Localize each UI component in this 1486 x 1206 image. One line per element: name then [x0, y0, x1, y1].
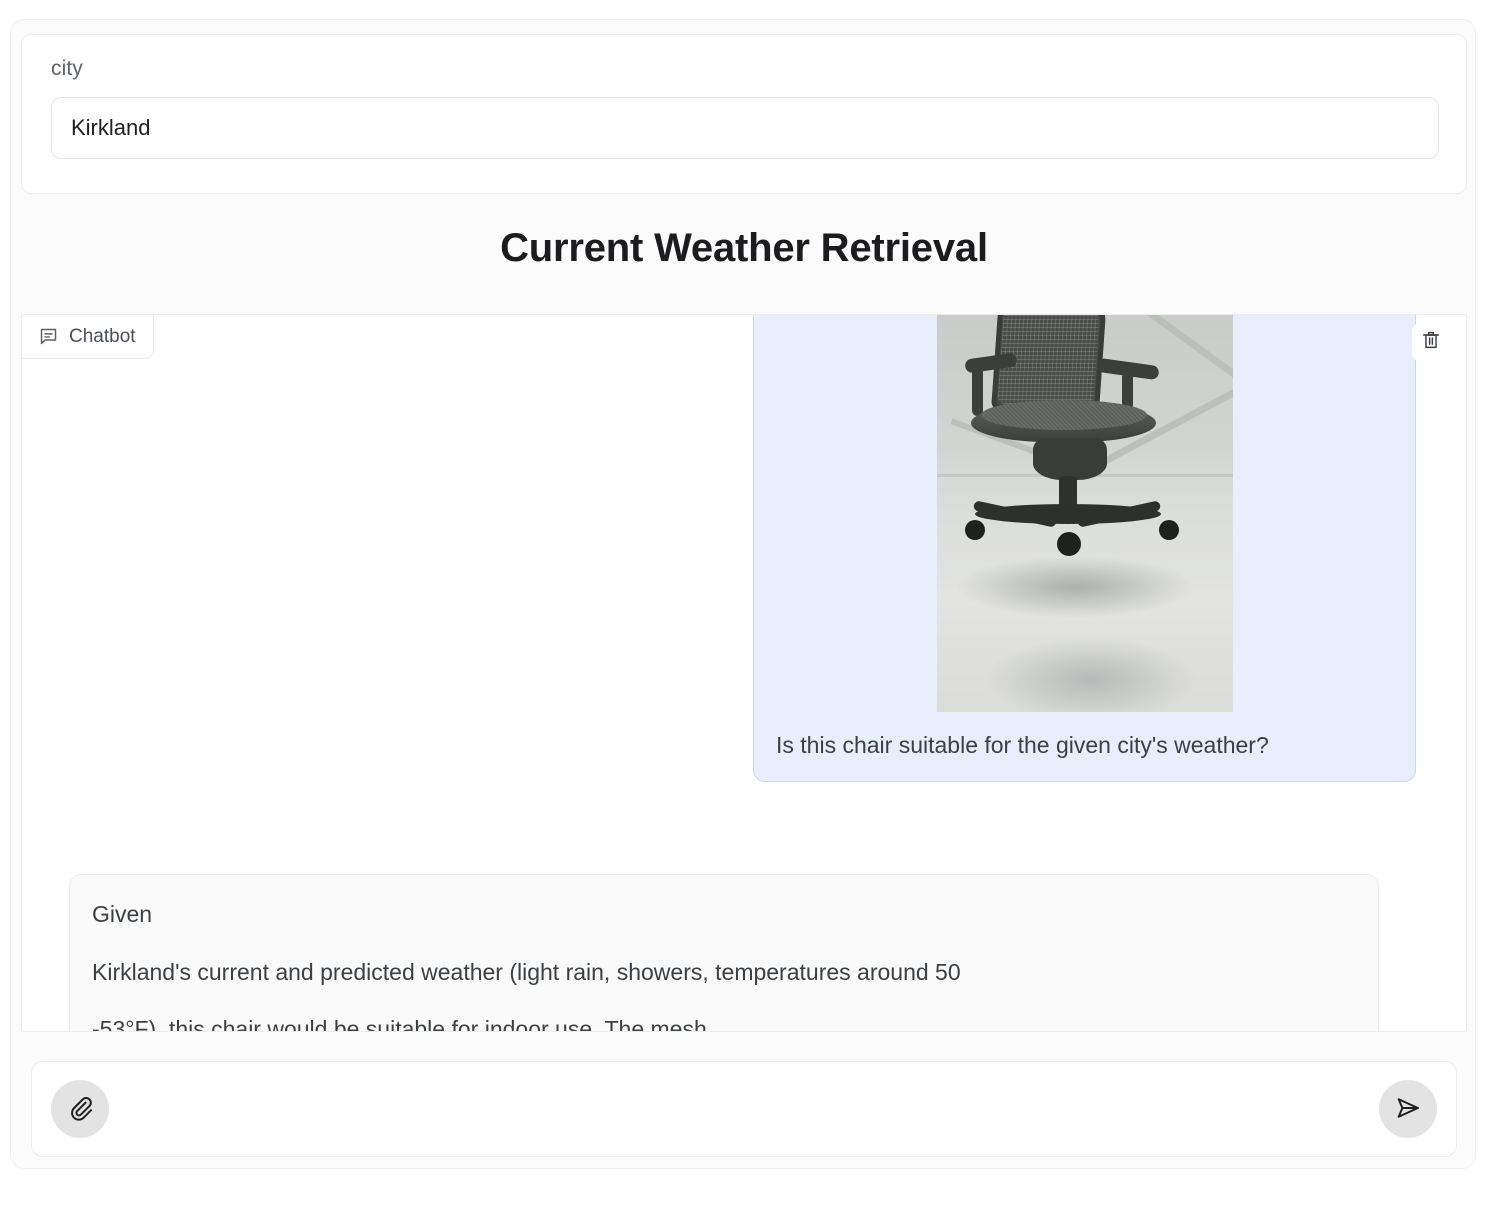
city-field-group: city	[21, 34, 1467, 194]
city-input[interactable]	[51, 97, 1439, 159]
bot-message-line-3: -53°F), this chair would be suitable for…	[92, 1014, 1356, 1032]
app-container: city Current Weather Retrieval	[10, 19, 1476, 1169]
user-message-text: Is this chair suitable for the given cit…	[754, 712, 1415, 781]
chatbot-tab-label: Chatbot	[69, 326, 136, 348]
chat-message-list[interactable]: Is this chair suitable for the given cit…	[22, 315, 1467, 1032]
page-title: Current Weather Retrieval	[11, 226, 1477, 271]
bot-message-line-1: Given	[92, 899, 1356, 931]
city-label: city	[51, 57, 83, 81]
delete-chat-button[interactable]	[1412, 323, 1450, 361]
send-message-button[interactable]	[1379, 1080, 1437, 1138]
chatbot-panel: Is this chair suitable for the given cit…	[21, 314, 1467, 1032]
office-chair-image[interactable]	[937, 315, 1233, 712]
chat-bubble-icon	[38, 326, 59, 347]
attach-file-button[interactable]	[51, 1080, 109, 1138]
trash-icon	[1420, 329, 1442, 356]
bot-message-box: Given Kirkland's current and predicted w…	[69, 874, 1379, 1032]
composer-bar	[31, 1061, 1457, 1157]
send-icon	[1394, 1094, 1422, 1125]
bot-message-line-2: Kirkland's current and predicted weather…	[92, 957, 1356, 989]
paperclip-icon	[66, 1094, 94, 1125]
user-message-bubble: Is this chair suitable for the given cit…	[753, 315, 1416, 782]
user-message-image-wrapper[interactable]	[937, 315, 1233, 712]
chatbot-tab: Chatbot	[22, 315, 154, 359]
